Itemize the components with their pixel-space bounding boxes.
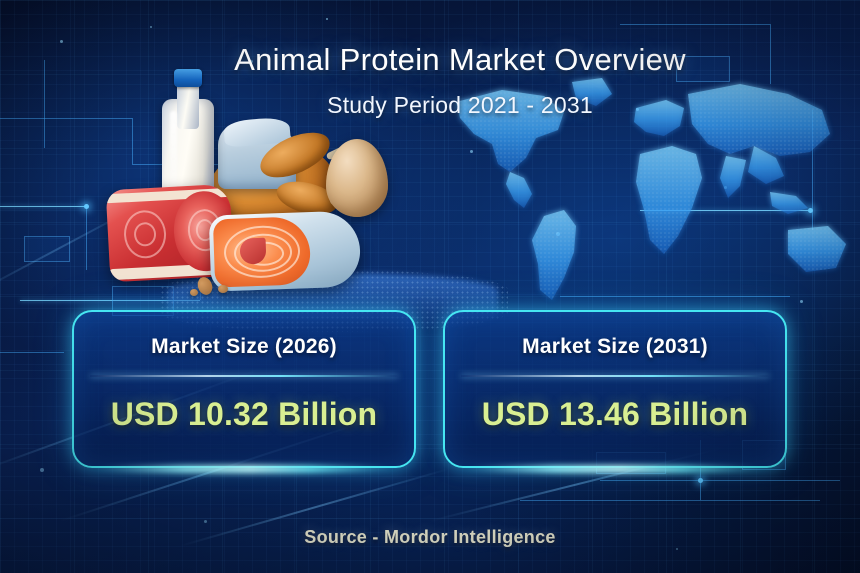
vignette-overlay	[0, 0, 860, 573]
infographic-canvas: Animal Protein Market Overview Study Per…	[0, 0, 860, 573]
